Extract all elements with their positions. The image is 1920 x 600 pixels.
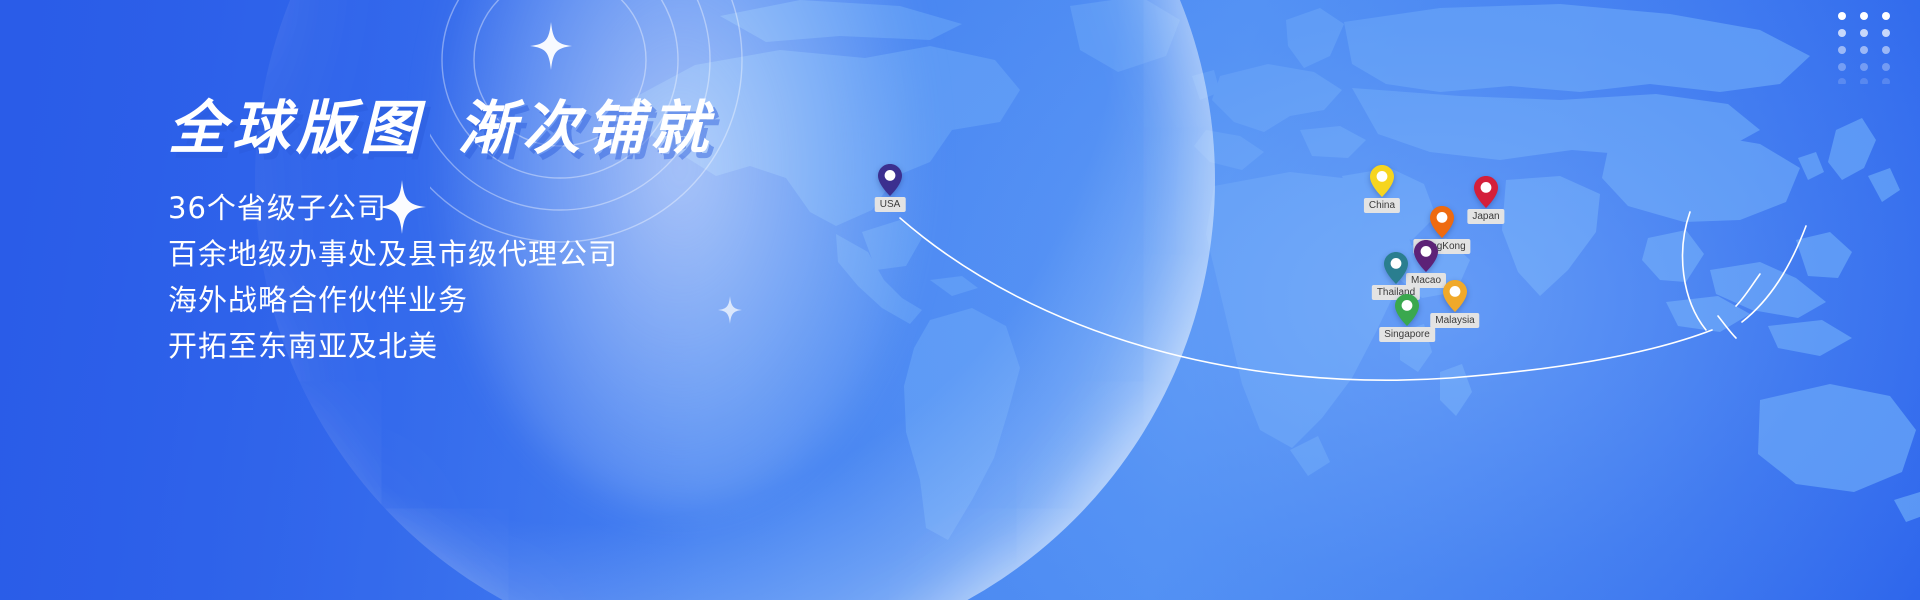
banner-line-3: 海外战略合作伙伴业务	[168, 277, 928, 323]
page-title: 全球版图渐次铺就	[168, 98, 928, 159]
sparkle-top-icon	[530, 22, 572, 70]
banner-line-2: 百余地级办事处及县市级代理公司	[168, 231, 928, 277]
banner-line-1: 36个省级子公司	[168, 185, 928, 231]
banner-bullet-list: 36个省级子公司 百余地级办事处及县市级代理公司 海外战略合作伙伴业务 开拓至东…	[168, 185, 928, 369]
map-pin-malaysia[interactable]: Malaysia	[1443, 280, 1467, 312]
map-pin-label-japan: Japan	[1467, 209, 1504, 224]
map-pin-label-china: China	[1364, 198, 1400, 213]
map-pin-hongkong[interactable]: HongKong	[1430, 206, 1454, 238]
map-pin-china[interactable]: China	[1370, 165, 1394, 197]
banner-copy: 全球版图渐次铺就 36个省级子公司 百余地级办事处及县市级代理公司 海外战略合作…	[168, 98, 928, 369]
global-footprint-banner: USA China Japan HongKong Macao Thailand …	[0, 0, 1920, 600]
map-pin-label-singapore: Singapore	[1379, 327, 1435, 342]
headline-part-2: 渐次铺就	[458, 94, 714, 162]
headline-part-1: 全球版图	[168, 94, 424, 162]
map-pin-singapore[interactable]: Singapore	[1395, 294, 1419, 326]
map-pin-macao[interactable]: Macao	[1414, 240, 1438, 272]
map-pin-label-malaysia: Malaysia	[1430, 313, 1479, 328]
map-pin-thailand[interactable]: Thailand	[1384, 252, 1408, 284]
map-pin-japan[interactable]: Japan	[1474, 176, 1498, 208]
banner-line-4: 开拓至东南亚及北美	[168, 323, 928, 369]
